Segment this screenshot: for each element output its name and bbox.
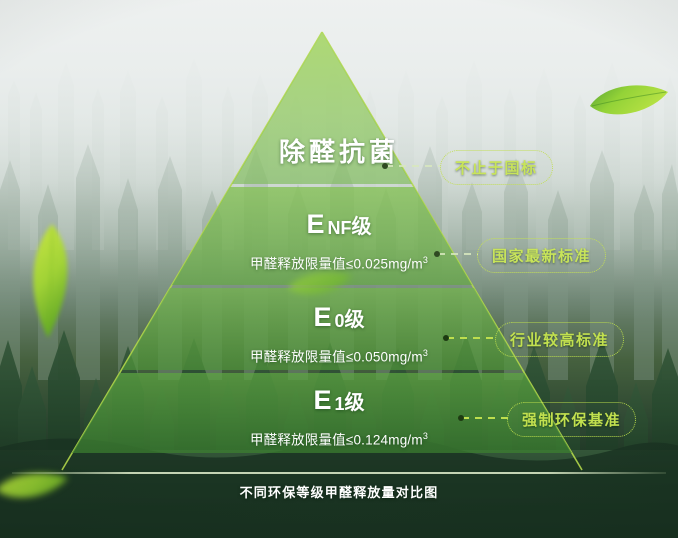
connector-dot-top <box>382 163 388 169</box>
badge-top[interactable]: 不止于国标 <box>440 150 553 185</box>
poster-canvas: 除醛抗菌 ENF级 甲醛释放限量值≤0.025mg/m3 <box>0 0 678 538</box>
base-divider <box>12 472 666 474</box>
connector-e0 <box>447 337 495 339</box>
connector-top <box>386 165 440 167</box>
connector-dot-e1 <box>458 415 464 421</box>
tier-top[interactable]: 除醛抗菌 <box>0 32 678 184</box>
chart-caption: 不同环保等级甲醛释放量对比图 <box>0 482 678 501</box>
badge-enf[interactable]: 国家最新标准 <box>477 238 606 273</box>
connector-enf <box>438 253 478 255</box>
connector-e1 <box>462 417 508 419</box>
tier-top-shape <box>0 32 678 184</box>
badge-e0[interactable]: 行业较高标准 <box>495 322 624 357</box>
connector-dot-enf <box>434 251 440 257</box>
badge-e1[interactable]: 强制环保基准 <box>507 402 636 437</box>
connector-dot-e0 <box>443 335 449 341</box>
